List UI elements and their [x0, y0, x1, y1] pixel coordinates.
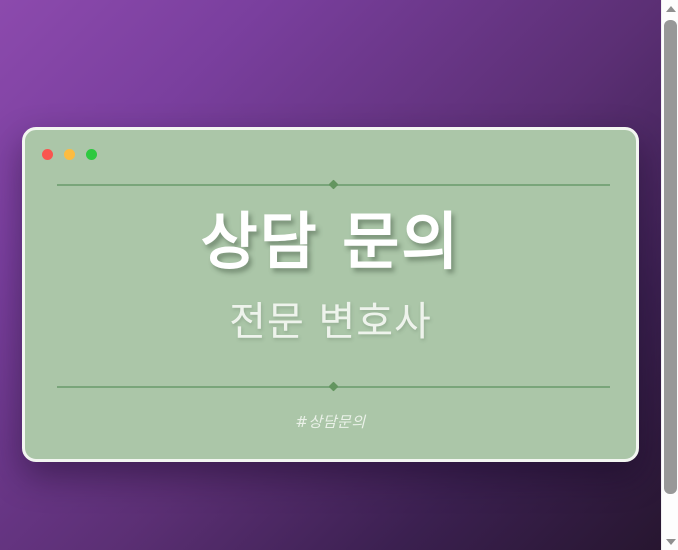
diamond-icon	[329, 382, 339, 392]
divider-bottom	[57, 381, 610, 392]
page-subtitle: 전문 변호사	[25, 302, 636, 342]
page-title: 상담 문의	[25, 211, 636, 273]
card-content: 상담 문의 전문 변호사 #상담문의	[25, 130, 636, 459]
triangle-up-icon	[666, 6, 676, 12]
promo-card: 상담 문의 전문 변호사 #상담문의	[22, 127, 639, 462]
scrollbar-thumb[interactable]	[664, 20, 677, 494]
vertical-scrollbar[interactable]	[661, 0, 678, 550]
scroll-down-icon[interactable]	[662, 533, 678, 550]
triangle-down-icon	[666, 539, 676, 545]
hashtag-label: #상담문의	[25, 411, 636, 432]
screenshot-viewport: 상담 문의 전문 변호사 #상담문의	[0, 0, 678, 550]
scroll-up-icon[interactable]	[662, 0, 678, 17]
